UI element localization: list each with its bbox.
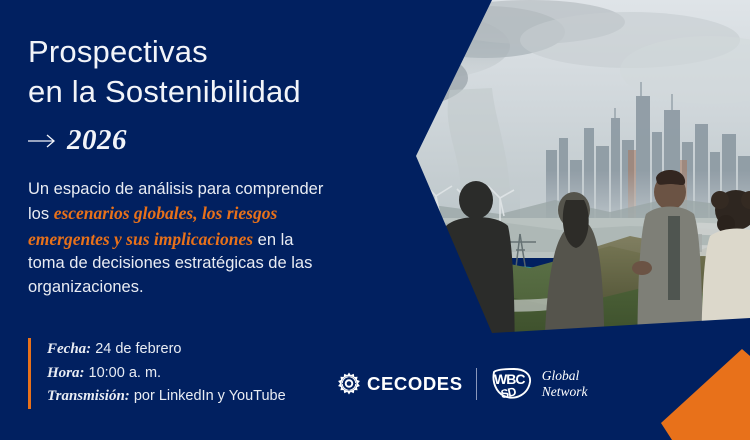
event-year: 2026 — [67, 124, 127, 157]
wbcsd-monogram-icon: WBC SD — [490, 366, 534, 402]
detail-fecha: Fecha: 24 de febrero — [47, 338, 286, 362]
logo-divider — [476, 368, 477, 400]
detail-hora: Hora: 10:00 a. m. — [47, 362, 286, 386]
cecodes-gear-icon — [337, 372, 361, 396]
detail-fecha-label: Fecha: — [47, 341, 91, 357]
page-title: Prospectivas en la Sostenibilidad — [28, 32, 408, 111]
detail-hora-value: 10:00 a. m. — [85, 365, 162, 381]
lead-highlight: escenarios globales, los riesgos emergen… — [28, 203, 277, 248]
detail-hora-label: Hora: — [47, 365, 85, 381]
event-poster: Prospectivas en la Sostenibilidad 2026 U… — [0, 0, 750, 440]
logo-wbcsd: WBC SD Global Network — [490, 366, 588, 402]
detail-fecha-value: 24 de febrero — [91, 341, 181, 357]
detail-transmision: Transmisión: por LinkedIn y YouTube — [47, 385, 286, 409]
year-row: 2026 — [28, 124, 127, 157]
detail-transmision-value: por LinkedIn y YouTube — [130, 388, 286, 404]
arrow-right-icon — [28, 133, 58, 149]
cecodes-wordmark: CECODES — [367, 373, 463, 395]
wbcsd-global-network-label: Global Network — [542, 368, 588, 400]
lead-paragraph: Un espacio de análisis para comprender l… — [28, 178, 334, 299]
event-details: Fecha: 24 de febrero Hora: 10:00 a. m. T… — [28, 338, 286, 409]
logo-cecodes: CECODES — [337, 372, 463, 396]
logo-bar: CECODES WBC SD Global Network — [337, 366, 587, 402]
detail-transmision-label: Transmisión: — [47, 388, 130, 404]
